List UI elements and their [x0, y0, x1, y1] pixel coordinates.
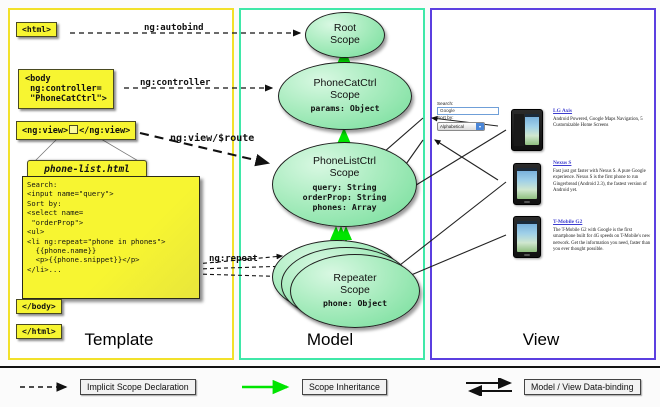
scope-phonecatctrl: PhoneCatCtrl Scope params: Object — [278, 62, 412, 130]
sort-select-value: Alphabetical — [438, 124, 476, 129]
phone-name-link[interactable]: LG Axis — [553, 108, 651, 114]
scope-rep-title-1: Repeater — [333, 272, 376, 284]
callout-code-phone-list-html: Search: <input name="query"> Sort by: <s… — [22, 176, 200, 299]
chevron-down-icon: ▾ — [476, 123, 484, 130]
phone-snippet: Android Powered, Google Maps Navigation,… — [553, 117, 651, 130]
sort-label: Sort by: — [437, 115, 501, 121]
double-arrow-icon — [462, 378, 518, 396]
scope-list-title-2: Scope — [330, 167, 360, 179]
scope-rep-title-2: Scope — [340, 284, 370, 296]
code-box-html-open: <html> — [16, 22, 57, 37]
green-arrow-icon — [240, 378, 296, 396]
scope-phonelistctrl: PhoneListCtrl Scope query: String orderP… — [272, 142, 417, 227]
phone-thumbnail-lg-axis — [511, 109, 543, 151]
legend-item-implicit-scope-declaration: Implicit Scope Declaration — [18, 378, 196, 396]
dashed-arrow-icon — [18, 378, 74, 396]
legend-label: Scope Inheritance — [302, 379, 387, 395]
panel-label-view: View — [430, 330, 652, 350]
code-box-body-close: </body> — [16, 299, 62, 314]
view-search-form: Search: Google Sort by: Alphabetical ▾ — [437, 101, 501, 131]
scope-root-title-2: Scope — [330, 34, 360, 46]
sort-select[interactable]: Alphabetical ▾ — [437, 122, 485, 131]
phone-list-item: LG Axis Android Powered, Google Maps Nav… — [553, 108, 651, 130]
search-input[interactable]: Google — [437, 107, 499, 115]
phone-list-item: Nexus S Fast just got faster with Nexus … — [553, 160, 651, 195]
phone-snippet: Fast just got faster with Nexus S. A pur… — [553, 169, 651, 195]
panel-label-model: Model — [239, 330, 421, 350]
scope-list-title-1: PhoneListCtrl — [313, 155, 376, 167]
phone-name-link[interactable]: Nexus S — [553, 160, 651, 166]
scope-root-title-1: Root — [334, 22, 356, 34]
code-box-body-open: <body ng:controller= "PhoneCatCtrl"> — [18, 69, 114, 109]
ngview-open-tag: <ng:view> — [22, 126, 68, 136]
scope-cat-title-1: PhoneCatCtrl — [313, 77, 376, 89]
phone-thumbnail-t-mobile-g2 — [513, 216, 541, 258]
scope-list-props: query: String orderProp: String phones: … — [303, 183, 387, 213]
ngview-close-tag: </ng:view> — [79, 126, 130, 136]
scope-root: Root Scope — [305, 12, 385, 58]
code-box-ngview: <ng:view></ng:view> — [16, 121, 136, 140]
legend-item-scope-inheritance: Scope Inheritance — [240, 378, 387, 396]
ngview-placeholder-icon — [69, 125, 78, 134]
scope-repeater: Repeater Scope phone: Object — [290, 254, 420, 328]
scope-cat-props: params: Object — [310, 104, 379, 114]
legend-label: Model / View Data-binding — [524, 379, 641, 395]
phone-list-item: T-Mobile G2 The T-Mobile G2 with Google … — [553, 219, 651, 254]
panel-label-template: Template — [8, 330, 230, 350]
legend: Implicit Scope Declaration Scope Inherit… — [0, 366, 660, 407]
phone-thumbnail-nexus-s — [513, 163, 541, 205]
legend-label: Implicit Scope Declaration — [80, 379, 196, 395]
scope-rep-props: phone: Object — [323, 299, 387, 309]
legend-item-model-view-data-binding: Model / View Data-binding — [462, 378, 641, 396]
diagram-canvas: ng:autobind ng:controller ng:view/$route… — [0, 0, 660, 405]
phone-name-link[interactable]: T-Mobile G2 — [553, 219, 651, 225]
phone-snippet: The T-Mobile G2 with Google is the first… — [553, 228, 651, 254]
scope-cat-title-2: Scope — [330, 89, 360, 101]
